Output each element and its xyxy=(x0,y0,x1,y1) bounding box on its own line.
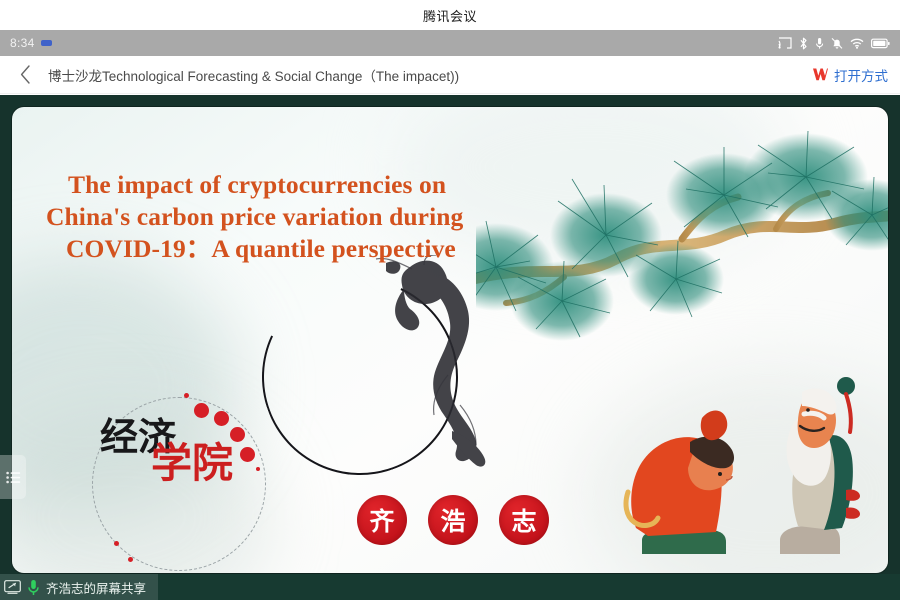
wps-logo-icon xyxy=(812,67,829,82)
document-header: 博士沙龙Technological Forecasting & Social C… xyxy=(0,56,900,94)
logo-dot-5 xyxy=(240,447,255,462)
logo-dot-4 xyxy=(230,427,245,442)
slide-canvas[interactable]: The impact of cryptocurrencies on China'… xyxy=(12,107,888,573)
status-clock: 8:34 xyxy=(10,36,35,50)
slide-title-line-3: COVID-19：A quantile perspective xyxy=(46,233,586,265)
slide-title-line-2: China's carbon price variation during xyxy=(46,201,586,233)
slide-title-line-1: The impact of cryptocurrencies on xyxy=(46,169,586,201)
screen-share-chip[interactable]: 齐浩志的屏幕共享 xyxy=(0,574,158,600)
logo-dot-7 xyxy=(114,541,119,546)
college-logo: 经济 学院 xyxy=(84,389,274,573)
notification-badge-icon xyxy=(41,40,52,46)
back-chevron-icon[interactable] xyxy=(12,62,38,88)
status-icon-group xyxy=(778,37,890,50)
name-seal-3: 志 xyxy=(499,495,549,545)
screen-share-icon xyxy=(4,580,21,594)
microphone-icon xyxy=(815,37,824,50)
logo-dot-6 xyxy=(256,467,260,471)
cast-icon xyxy=(778,37,792,49)
bluetooth-icon xyxy=(799,37,808,50)
open-with-button[interactable]: 打开方式 xyxy=(812,65,888,85)
bell-mute-icon xyxy=(831,37,843,50)
slide-title: The impact of cryptocurrencies on China'… xyxy=(46,169,586,265)
name-seal-1: 齐 xyxy=(357,495,407,545)
app-titlebar: 腾讯会议 xyxy=(0,0,900,30)
screen-share-bar: 齐浩志的屏幕共享 xyxy=(0,574,900,600)
screen-share-label: 齐浩志的屏幕共享 xyxy=(46,578,146,597)
name-seal-2: 浩 xyxy=(428,495,478,545)
logo-dot-1 xyxy=(184,393,189,398)
logo-red-text: 学院 xyxy=(150,441,234,486)
logo-dot-3 xyxy=(214,411,229,426)
app-title: 腾讯会议 xyxy=(423,6,477,25)
document-title: 博士沙龙Technological Forecasting & Social C… xyxy=(48,65,812,85)
system-status-bar: 8:34 xyxy=(0,30,900,56)
list-menu-icon[interactable] xyxy=(0,455,26,499)
ink-splash-illustration xyxy=(352,255,492,470)
logo-dot-8 xyxy=(128,557,133,562)
logo-dot-2 xyxy=(194,403,209,418)
name-seal-group: 齐 浩 志 xyxy=(357,495,549,545)
microphone-icon xyxy=(27,579,40,596)
battery-icon xyxy=(871,38,890,49)
bowing-student-and-elder-illustration xyxy=(584,358,874,573)
wifi-icon xyxy=(850,38,864,49)
presentation-stage[interactable]: The impact of cryptocurrencies on China'… xyxy=(0,95,900,600)
open-with-label: 打开方式 xyxy=(834,65,888,85)
